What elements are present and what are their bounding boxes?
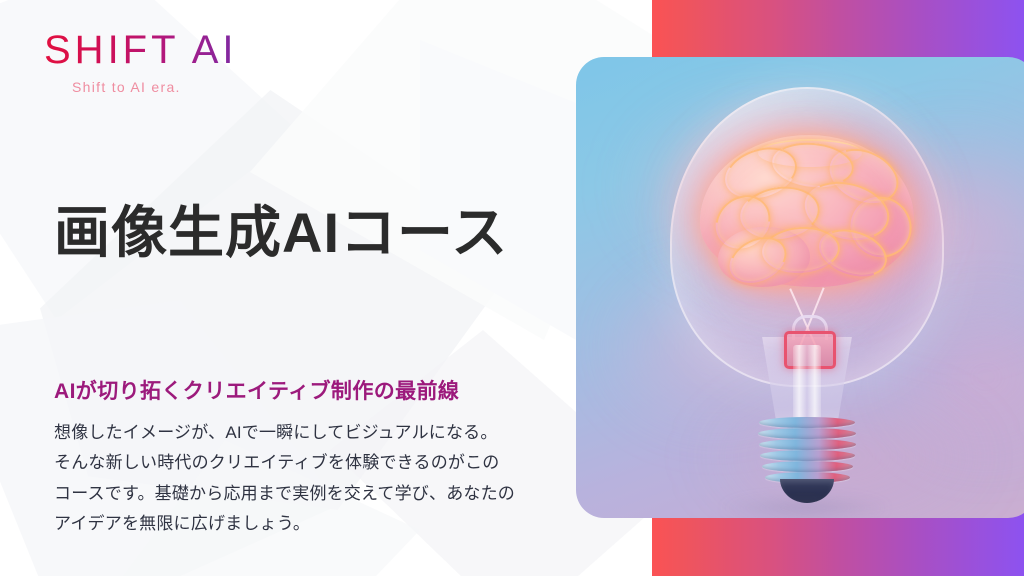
bulb-screw-base: [758, 417, 856, 495]
body-line: コースです。基礎から応用まで実例を交えて学び、あなたの: [54, 479, 524, 509]
subheading: AIが切り拓くクリエイティブ制作の最前線: [54, 375, 459, 405]
body-paragraph: 想像したイメージが、AIで一瞬にしてビジュアルになる。 そんな新しい時代のクリエ…: [54, 418, 524, 539]
bulb-drop-shadow: [720, 495, 890, 518]
screw-thread: [759, 439, 856, 450]
body-line: そんな新しい時代のクリエイティブを体験できるのがこの: [54, 448, 524, 478]
screw-thread: [762, 461, 853, 472]
light-bulb-illustration: [662, 87, 952, 497]
screw-thread: [759, 417, 855, 428]
gradient-band-bottom: [652, 510, 1024, 576]
body-line: 想像したイメージが、AIで一瞬にしてビジュアルになる。: [54, 418, 524, 448]
page-title: 画像生成AIコース: [54, 203, 508, 263]
logo-wordmark: SHIFT AI: [44, 30, 274, 70]
body-line: アイデアを無限に広げましょう。: [54, 509, 524, 539]
glowing-brain: [700, 135, 914, 287]
slide-canvas: SHIFT AI Shift to AI era. 画像生成AIコース AIが切…: [0, 0, 1024, 576]
logo-tagline: Shift to AI era.: [72, 79, 274, 95]
screw-thread: [758, 428, 856, 439]
brand-logo: SHIFT AI Shift to AI era.: [44, 30, 274, 95]
hero-image-panel: [576, 57, 1024, 518]
screw-thread: [760, 450, 855, 461]
